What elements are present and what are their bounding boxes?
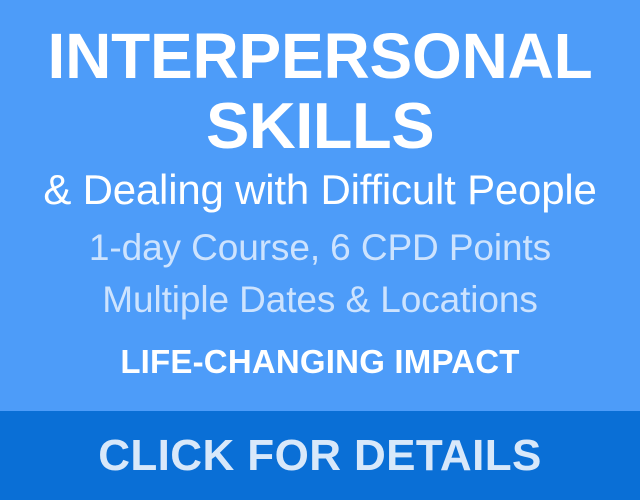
ad-headline-line-2: SKILLS <box>0 92 640 160</box>
ad-detail-dates-locations: Multiple Dates & Locations <box>0 274 640 326</box>
advertisement-banner[interactable]: INTERPERSONAL SKILLS & Dealing with Diff… <box>0 0 640 500</box>
ad-headline-line-1: INTERPERSONAL <box>0 22 640 90</box>
cta-button-label: CLICK FOR DETAILS <box>98 432 542 480</box>
ad-subtitle: & Dealing with Difficult People <box>0 166 640 214</box>
ad-content-area: INTERPERSONAL SKILLS & Dealing with Diff… <box>0 0 640 411</box>
ad-impact-tagline: LIFE-CHANGING IMPACT <box>0 342 640 382</box>
cta-button[interactable]: CLICK FOR DETAILS <box>0 411 640 500</box>
ad-detail-course-info: 1-day Course, 6 CPD Points <box>0 222 640 274</box>
